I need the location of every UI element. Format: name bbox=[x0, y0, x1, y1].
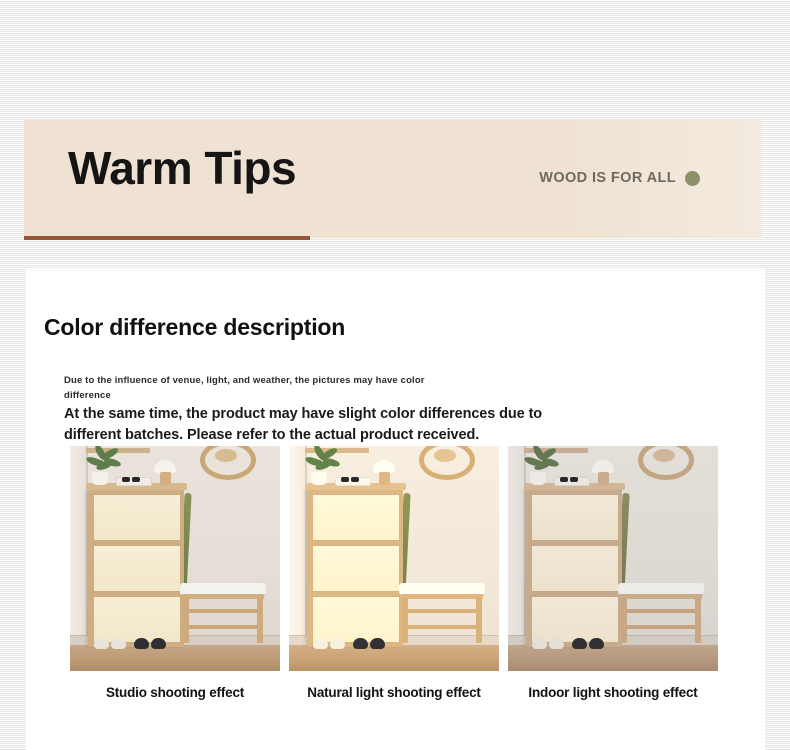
gallery-item: Natural light shooting effect bbox=[289, 446, 499, 700]
product-photo-studio[interactable] bbox=[70, 446, 280, 671]
wooden-bench bbox=[180, 583, 266, 643]
table-lamp-base bbox=[379, 472, 390, 485]
bench-rail bbox=[623, 625, 699, 629]
bench-leg bbox=[257, 598, 263, 643]
brand-tagline-text: WOOD IS FOR ALL bbox=[539, 170, 676, 186]
plant-leaves-icon bbox=[522, 446, 558, 474]
brand-tagline: WOOD IS FOR ALL bbox=[539, 170, 700, 186]
shoe-icon bbox=[151, 638, 166, 649]
wooden-bench bbox=[399, 583, 485, 643]
shoe-icon bbox=[94, 638, 109, 649]
section-heading: Color difference description bbox=[44, 314, 345, 341]
bench-apron bbox=[620, 594, 702, 599]
shoe-icon bbox=[111, 638, 126, 649]
product-photo-caption: Indoor light shooting effect bbox=[508, 685, 718, 700]
product-photo-caption: Natural light shooting effect bbox=[289, 685, 499, 700]
header-banner: Warm Tips WOOD IS FOR ALL bbox=[24, 120, 762, 238]
cabinet-drawer bbox=[312, 494, 400, 541]
plant-leaves-icon bbox=[84, 446, 120, 474]
wooden-bench bbox=[618, 583, 704, 643]
bench-rail bbox=[404, 625, 480, 629]
plant-pot bbox=[311, 472, 327, 485]
sunglasses-icon bbox=[341, 477, 361, 482]
shoe-icon bbox=[313, 638, 328, 649]
cabinet-drawer bbox=[93, 545, 181, 592]
cabinet-drawer bbox=[531, 494, 619, 541]
bench-leg bbox=[402, 598, 408, 643]
product-shot-gallery: Studio shooting effect bbox=[70, 446, 745, 700]
shoe-icon bbox=[330, 638, 345, 649]
entryway-scene-illustration bbox=[70, 446, 280, 671]
page-root: Warm Tips WOOD IS FOR ALL Color differen… bbox=[0, 0, 790, 750]
product-photo-caption: Studio shooting effect bbox=[70, 685, 280, 700]
color-difference-note-large: At the same time, the product may have s… bbox=[64, 404, 574, 445]
cabinet-drawer bbox=[312, 545, 400, 592]
color-difference-note-small: Due to the influence of venue, light, an… bbox=[64, 374, 456, 403]
bench-rail bbox=[623, 609, 699, 613]
plant-leaves-icon bbox=[303, 446, 339, 474]
shoe-cabinet bbox=[526, 488, 622, 647]
bench-leg bbox=[695, 598, 701, 643]
product-photo-indoor-light[interactable] bbox=[508, 446, 718, 671]
product-photo-natural-light[interactable] bbox=[289, 446, 499, 671]
shoes-group bbox=[532, 635, 606, 649]
page-title: Warm Tips bbox=[68, 140, 296, 198]
header-underline-accent bbox=[24, 236, 310, 240]
bench-leg bbox=[476, 598, 482, 643]
shoe-icon bbox=[134, 638, 149, 649]
shoe-cabinet bbox=[307, 488, 403, 647]
shoe-icon bbox=[370, 638, 385, 649]
plant-pot bbox=[92, 472, 108, 485]
bench-apron bbox=[401, 594, 483, 599]
bench-rail bbox=[185, 625, 261, 629]
shoe-icon bbox=[549, 638, 564, 649]
table-lamp-base bbox=[160, 472, 171, 485]
bench-leg bbox=[621, 598, 627, 643]
sunglasses-icon bbox=[560, 477, 580, 482]
gallery-item: Indoor light shooting effect bbox=[508, 446, 718, 700]
shoes-group bbox=[313, 635, 387, 649]
cabinet-drawer bbox=[93, 494, 181, 541]
content-card: Color difference description Due to the … bbox=[26, 268, 765, 750]
brand-dot-icon bbox=[685, 171, 700, 186]
table-lamp-base bbox=[598, 472, 609, 485]
bench-apron bbox=[182, 594, 264, 599]
bench-rail bbox=[404, 609, 480, 613]
sunglasses-icon bbox=[122, 477, 142, 482]
shoe-icon bbox=[572, 638, 587, 649]
shoe-icon bbox=[353, 638, 368, 649]
bench-leg bbox=[183, 598, 189, 643]
bench-rail bbox=[185, 609, 261, 613]
shoe-icon bbox=[589, 638, 604, 649]
entryway-scene-illustration bbox=[508, 446, 718, 671]
shoe-icon bbox=[532, 638, 547, 649]
cabinet-drawer bbox=[531, 545, 619, 592]
plant-pot bbox=[530, 472, 546, 485]
entryway-scene-illustration bbox=[289, 446, 499, 671]
shoes-group bbox=[94, 635, 168, 649]
gallery-item: Studio shooting effect bbox=[70, 446, 280, 700]
shoe-cabinet bbox=[88, 488, 184, 647]
